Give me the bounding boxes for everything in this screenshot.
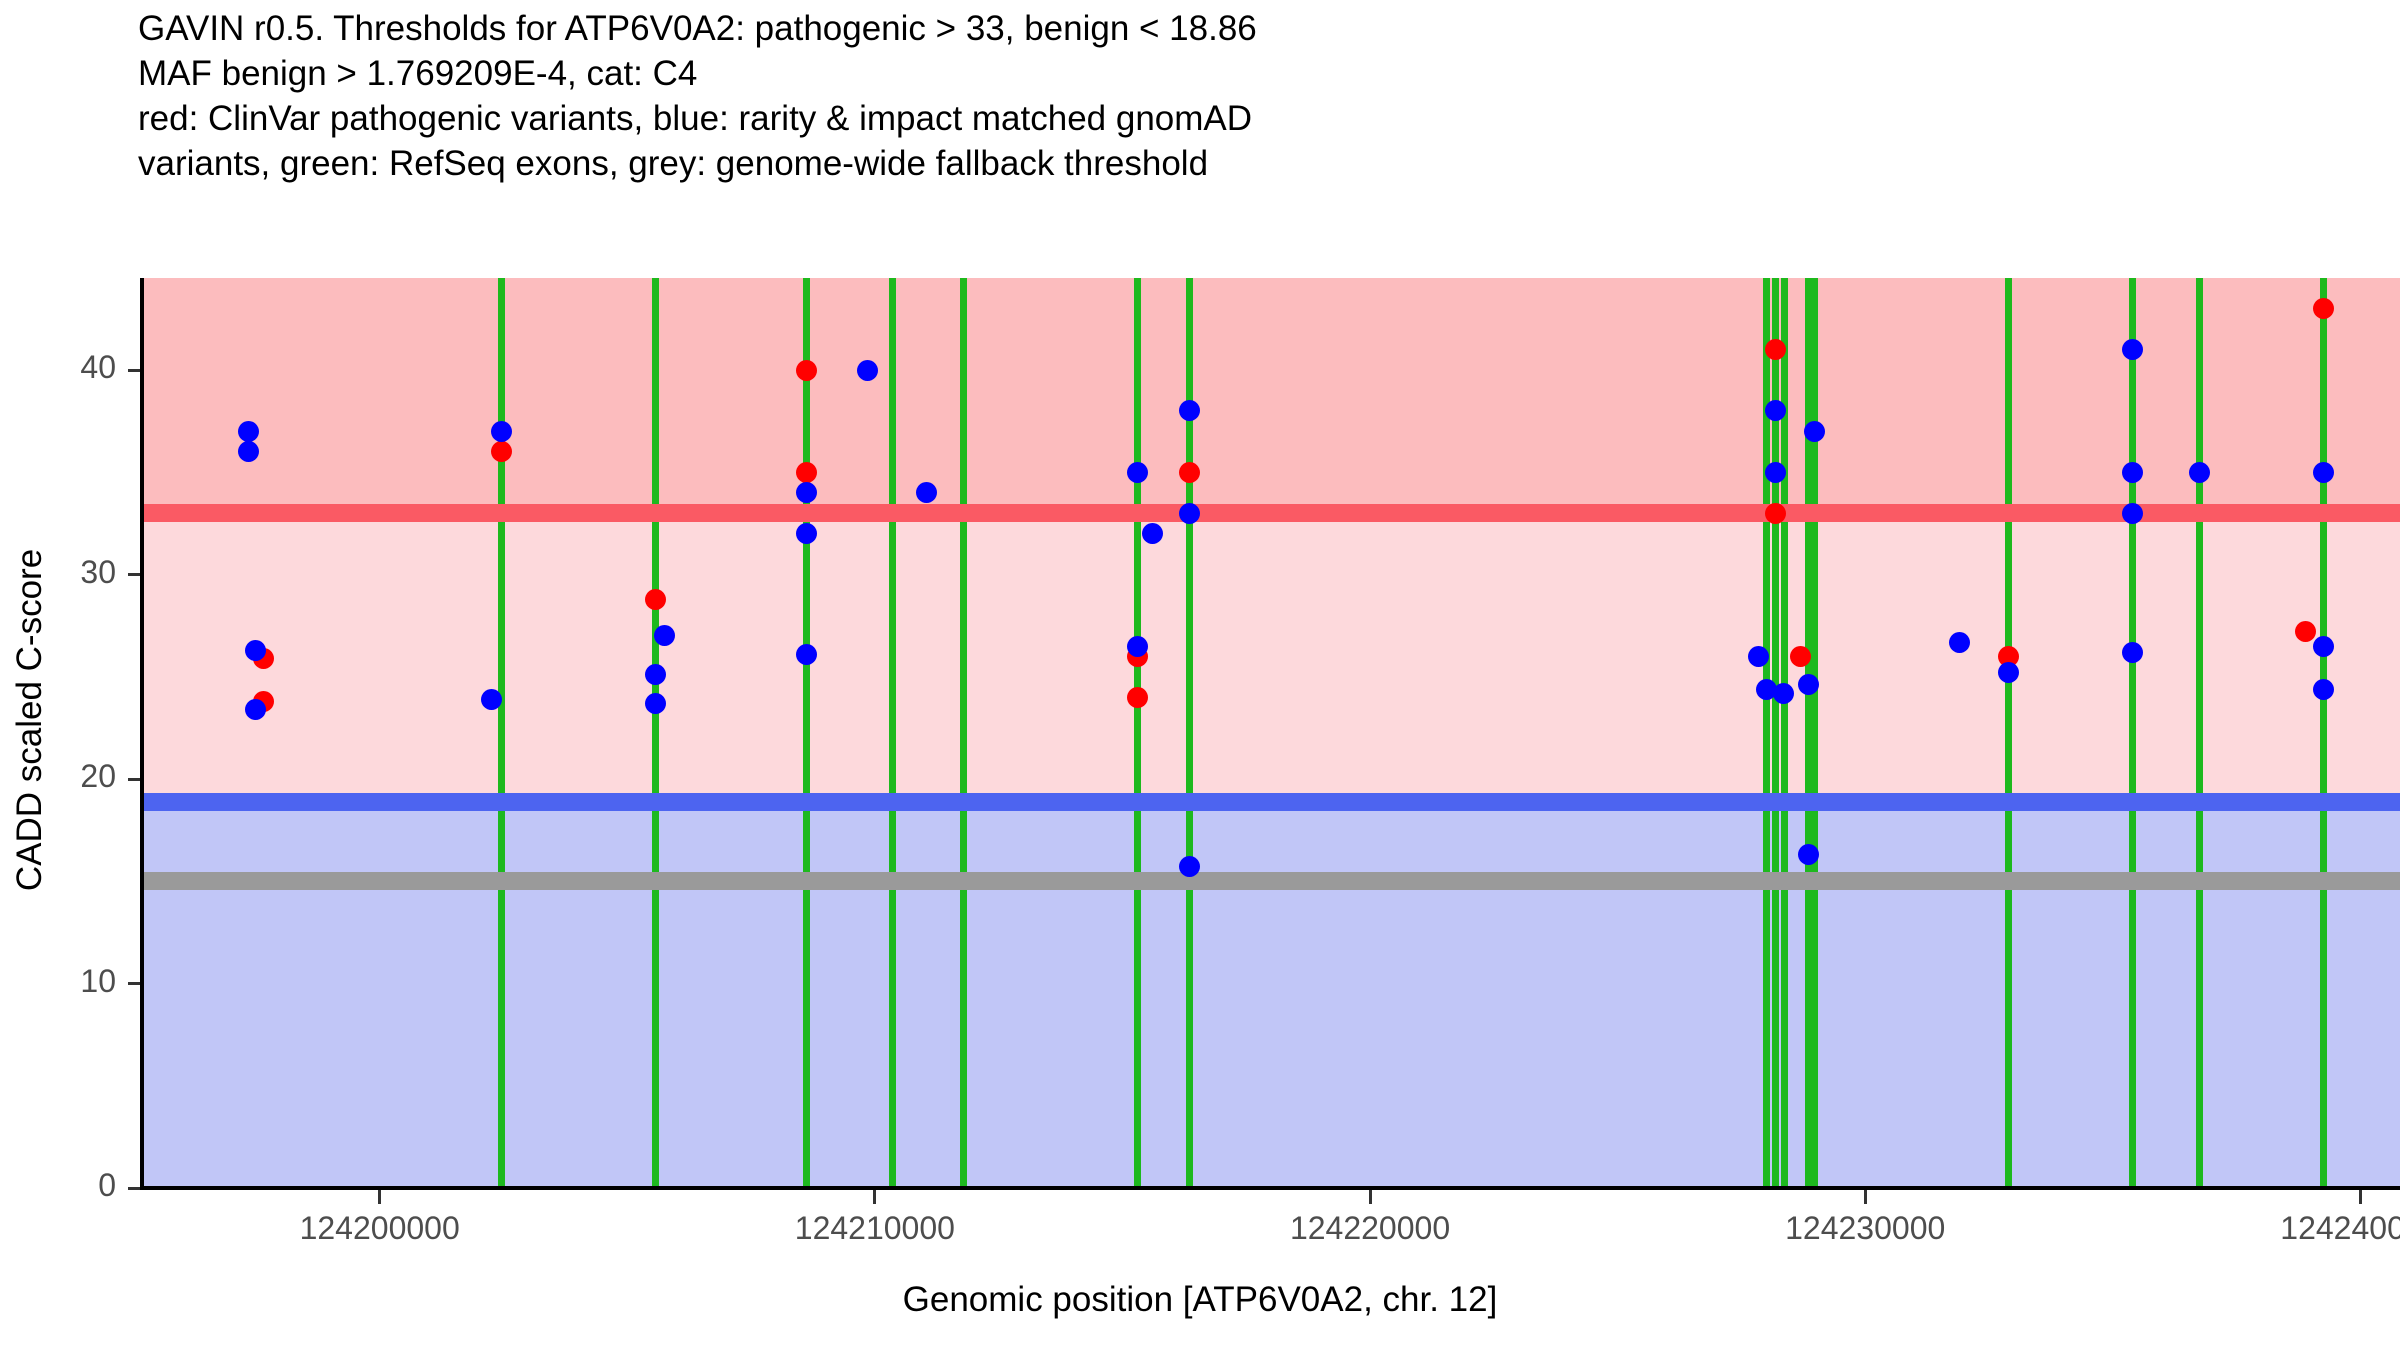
refseq-exon-line	[652, 278, 659, 1188]
clinvar-pathogenic-point	[1790, 646, 1811, 667]
gnomad-variant-point	[1127, 462, 1148, 483]
gnomad-variant-point	[1765, 400, 1786, 421]
refseq-exon-line	[889, 278, 896, 1188]
y-tick-mark	[128, 1187, 140, 1190]
y-axis-title: CADD scaled C-score	[10, 370, 50, 1070]
refseq-exon-line	[1811, 278, 1818, 1188]
clinvar-pathogenic-point	[1765, 503, 1786, 524]
gnomad-variant-point	[2313, 679, 2334, 700]
band-benign-region	[142, 802, 2400, 1188]
refseq-exon-line	[1134, 278, 1141, 1188]
gnomad-variant-point	[2189, 462, 2210, 483]
y-axis-line	[140, 278, 144, 1190]
gnomad-variant-point	[796, 523, 817, 544]
refseq-exon-line	[803, 278, 810, 1188]
gnomad-variant-point	[2122, 462, 2143, 483]
x-axis-line	[140, 1186, 2400, 1190]
x-tick-mark	[378, 1190, 381, 1204]
x-tick-mark	[2359, 1190, 2362, 1204]
clinvar-pathogenic-point	[1765, 339, 1786, 360]
refseq-exon-line	[960, 278, 967, 1188]
benign-threshold-line	[142, 793, 2400, 811]
y-tick-mark	[128, 982, 140, 985]
gnomad-variant-point	[491, 421, 512, 442]
x-tick-mark	[1864, 1190, 1867, 1204]
refseq-exon-line	[2320, 278, 2327, 1188]
refseq-exon-line	[2196, 278, 2203, 1188]
y-tick-mark	[128, 778, 140, 781]
gnomad-variant-point	[2122, 642, 2143, 663]
x-tick-mark	[1369, 1190, 1372, 1204]
y-tick-label: 0	[26, 1167, 116, 1204]
gnomad-variant-point	[238, 421, 259, 442]
gnomad-variant-point	[857, 360, 878, 381]
gnomad-variant-point	[1142, 523, 1163, 544]
clinvar-pathogenic-point	[1127, 687, 1148, 708]
gnomad-variant-point	[2122, 339, 2143, 360]
refseq-exon-line	[498, 278, 505, 1188]
y-tick-mark	[128, 369, 140, 372]
y-tick-mark	[128, 573, 140, 576]
clinvar-pathogenic-point	[491, 441, 512, 462]
plot-panel	[142, 278, 2400, 1188]
x-tick-label: 124200000	[230, 1210, 530, 1247]
clinvar-pathogenic-point	[2313, 298, 2334, 319]
x-tick-label: 124240000	[2210, 1210, 2400, 1247]
band-vus-region	[142, 513, 2400, 802]
clinvar-pathogenic-point	[645, 589, 666, 610]
gnomad-variant-point	[1765, 462, 1786, 483]
band-pathogenic-region	[142, 278, 2400, 513]
gnomad-variant-point	[1127, 636, 1148, 657]
x-tick-label: 124220000	[1220, 1210, 1520, 1247]
gnomad-variant-point	[2313, 462, 2334, 483]
scatter-plot: 010203040 124200000124210000124220000124…	[0, 0, 2400, 1350]
gnomad-variant-point	[1179, 503, 1200, 524]
clinvar-pathogenic-point	[796, 462, 817, 483]
gnomad-variant-point	[2122, 503, 2143, 524]
x-tick-label: 124210000	[725, 1210, 1025, 1247]
gnomad-variant-point	[481, 689, 502, 710]
clinvar-pathogenic-point	[796, 360, 817, 381]
gnomad-variant-point	[1804, 421, 1825, 442]
gnomad-variant-point	[245, 640, 266, 661]
gnomad-variant-point	[1949, 632, 1970, 653]
gnomad-variant-point	[1773, 683, 1794, 704]
pathogenic-threshold-line	[142, 504, 2400, 522]
x-tick-mark	[873, 1190, 876, 1204]
refseq-exon-line	[2129, 278, 2136, 1188]
x-tick-label: 124230000	[1715, 1210, 2015, 1247]
fallback-threshold-line	[142, 872, 2400, 890]
gnomad-variant-point	[796, 644, 817, 665]
gnomad-variant-point	[1748, 646, 1769, 667]
gnomad-variant-point	[2313, 636, 2334, 657]
gnomad-variant-point	[1798, 844, 1819, 865]
x-axis-title: Genomic position [ATP6V0A2, chr. 12]	[0, 1280, 2400, 1320]
refseq-exon-line	[2005, 278, 2012, 1188]
clinvar-pathogenic-point	[1179, 462, 1200, 483]
